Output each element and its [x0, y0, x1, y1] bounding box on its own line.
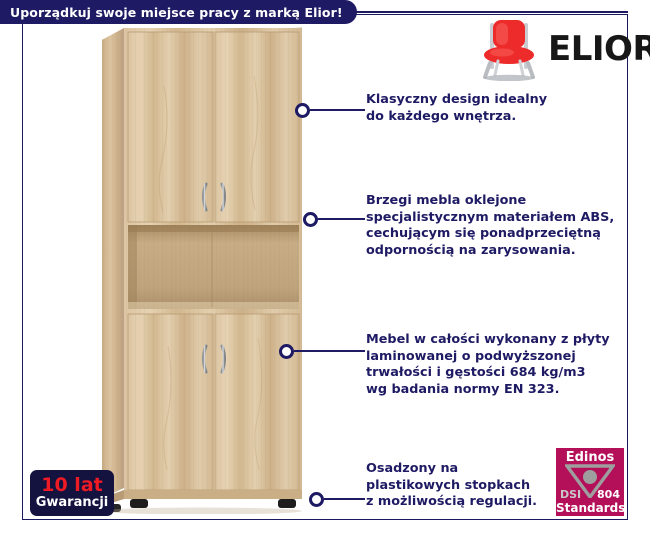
callout-text-abs-edges: Brzegi mebla oklejone specjalistycznym m… [366, 193, 628, 260]
warranty-label: Gwarancji [36, 496, 109, 510]
edinos-code-right: 804 [597, 488, 620, 501]
warranty-years: 10 lat [41, 476, 102, 495]
callout-marker-laminated-board[interactable] [279, 344, 294, 359]
banner-rule [332, 11, 628, 13]
header-banner-text: Uporządkuj swoje miejsce pracy z marką E… [10, 5, 343, 20]
brand-wordmark: ELIOR [548, 32, 650, 66]
red-chair-icon [478, 17, 540, 81]
cabinet-foot [130, 499, 148, 508]
edinos-subtitle: Standards [556, 502, 624, 514]
edinos-title: Edinos [556, 451, 624, 464]
product-image [72, 26, 317, 514]
callout-marker-abs-edges[interactable] [303, 212, 318, 227]
header-banner: Uporządkuj swoje miejsce pracy z marką E… [0, 0, 357, 24]
warranty-badge: 10 lat Gwarancji [30, 470, 114, 516]
callout-leader-abs-edges [318, 218, 365, 220]
callout-leader-design [310, 109, 365, 111]
infographic-canvas: Uporządkuj swoje miejsce pracy z marką E… [0, 0, 650, 534]
edinos-standards-badge: Edinos DSI 804 Standards [556, 448, 624, 516]
edinos-code-left: DSI [560, 488, 581, 501]
brand-logo: ELIOR [478, 16, 628, 82]
callout-marker-adjustable-feet[interactable] [309, 492, 324, 507]
cabinet-illustration [72, 26, 317, 514]
callout-marker-design[interactable] [295, 103, 310, 118]
callout-leader-laminated-board [294, 350, 365, 352]
callout-leader-adjustable-feet [324, 498, 365, 500]
cabinet-foot [278, 499, 296, 508]
callout-text-laminated-board: Mebel w całości wykonany z płyty laminow… [366, 332, 628, 399]
callout-text-design: Klasyczny design idealny do każdego wnęt… [366, 92, 611, 125]
